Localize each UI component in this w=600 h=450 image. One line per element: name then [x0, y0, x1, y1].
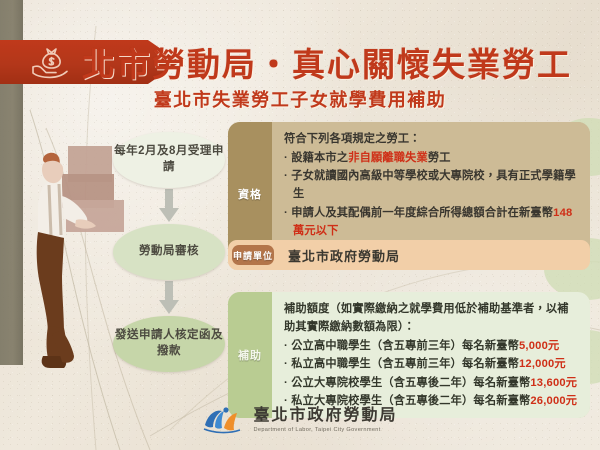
- flow-step-3[interactable]: 發送申請人核定函及撥款: [113, 316, 225, 372]
- applying-unit-value: 臺北市政府勞動局: [274, 246, 400, 265]
- footer-org-name-zh: 臺北市政府勞動局: [253, 407, 397, 425]
- qualification-lead: 符合下列各項規定之勞工：: [284, 130, 580, 148]
- page-subtitle: 臺北市失業勞工子女就學費用補助: [0, 86, 600, 112]
- qualification-item: 子女就讀國內高級中等學校或大專院校，具有正式學籍學生: [284, 167, 580, 203]
- flow-step-2[interactable]: 勞動局審核: [113, 224, 225, 280]
- subsidy-panel: 補助額度（如實際繳納之就學費用低於補助基準者，以補助其實際繳納數額為限）： 公立…: [272, 292, 590, 418]
- subsidy-lead: 補助額度（如實際繳納之就學費用低於補助基準者，以補助其實際繳納數額為限）：: [284, 300, 580, 336]
- worker-carrying-boxes-illustration: [18, 128, 128, 383]
- subsidy-badge: 補助: [228, 292, 272, 418]
- subsidy-item: 公立高中職學生（含五專前三年）每名新臺幣5,000元: [284, 337, 580, 355]
- applying-unit-section: 申請單位 臺北市政府勞動局: [228, 240, 590, 270]
- money-bag-in-hand-icon: [28, 44, 72, 82]
- flow-step-1[interactable]: 每年2月及8月受理申請: [113, 132, 225, 188]
- process-flow: 每年2月及8月受理申請 勞動局審核 發送申請人核定函及撥款: [113, 132, 228, 372]
- flow-arrow-1: [113, 188, 225, 224]
- footer-org-name-en: Department of Labor, Taipei City Governm…: [253, 427, 397, 433]
- taipei-city-government-labor-logo: [202, 405, 244, 435]
- flow-step-1-label: 每年2月及8月受理申請: [113, 144, 225, 175]
- qualification-item: 設籍本市之非自願離職失業勞工: [284, 149, 580, 167]
- page-title: 北市勞動局・真心關懷失業勞工: [82, 38, 594, 86]
- subsidy-item: 公立大專院校學生（含五專後二年）每名新臺幣13,600元: [284, 374, 580, 392]
- subsidy-section: 補助 補助額度（如實際繳納之就學費用低於補助基準者，以補助其實際繳納數額為限）：…: [228, 292, 590, 418]
- applying-unit-badge: 申請單位: [232, 245, 274, 265]
- poster-root: 北市勞動局・真心關懷失業勞工 臺北市失業勞工子女就學費用補助 每年2月及8月受理…: [0, 0, 600, 450]
- flow-arrow-2: [113, 280, 225, 316]
- flow-step-3-label: 發送申請人核定函及撥款: [113, 328, 225, 359]
- qualification-item: 申請人及其配偶前一年度綜合所得總額合計在新臺幣148萬元以下: [284, 204, 580, 240]
- footer: 臺北市政府勞動局 Department of Labor, Taipei Cit…: [0, 405, 600, 435]
- flow-step-2-label: 勞動局審核: [139, 244, 199, 260]
- subsidy-item: 私立高中職學生（含五專前三年）每名新臺幣12,000元: [284, 355, 580, 373]
